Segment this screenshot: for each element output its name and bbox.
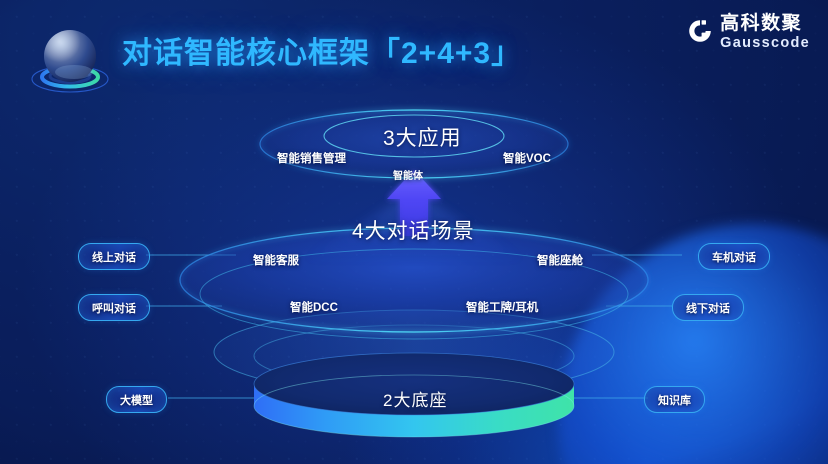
chip-large-model[interactable]: 大模型 xyxy=(106,386,167,413)
chip-knowledge-base[interactable]: 知识库 xyxy=(644,386,705,413)
slide-canvas: 对话智能核心框架「2+4+3」 高科数聚 Gausscode xyxy=(0,0,828,464)
upward-arrow-shape xyxy=(300,170,528,262)
chip-offline-dialogue[interactable]: 线下对话 xyxy=(672,294,744,321)
chip-invehicle-dialogue[interactable]: 车机对话 xyxy=(698,243,770,270)
top-layer-shape xyxy=(260,110,568,178)
chip-call-dialogue[interactable]: 呼叫对话 xyxy=(78,294,150,321)
chip-online-dialogue[interactable]: 线上对话 xyxy=(78,243,150,270)
framework-diagram: 3大应用 智能销售管理 智能VOC 智能体 4大对话场景 智能客服 智能座舱 智… xyxy=(0,0,828,464)
